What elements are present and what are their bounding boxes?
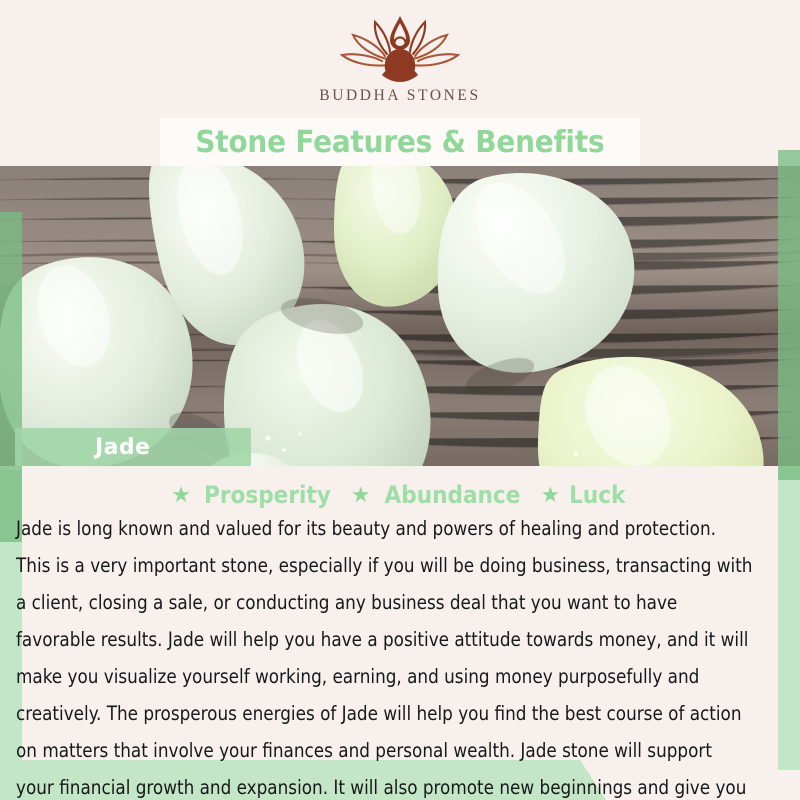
star-icon: ★ <box>171 484 191 506</box>
stone-photo <box>0 166 800 466</box>
star-icon: ★ <box>540 484 560 506</box>
stone-name: Jade <box>95 435 150 460</box>
lotus-meditation-icon <box>326 13 474 85</box>
page-title: Stone Features & Benefits <box>196 125 605 160</box>
benefit-label: Abundance <box>384 481 520 509</box>
benefit-item-prosperity: ★ Prosperity <box>171 481 338 509</box>
benefit-label: Luck <box>569 481 625 509</box>
star-icon: ★ <box>351 484 371 506</box>
decorative-green-overlay-right <box>778 150 800 480</box>
title-banner: Stone Features & Benefits <box>160 118 640 166</box>
stone-name-band: Jade <box>15 428 251 466</box>
infographic-card: BUDDHA STONES Stone Features & Benefits <box>0 0 800 800</box>
jade-stones-illustration <box>0 166 800 466</box>
brand-wordmark: BUDDHA STONES <box>319 87 480 105</box>
benefits-row: ★ Prosperity ★ Abundance ★ Luck <box>0 478 800 512</box>
brand-logo-block: BUDDHA STONES <box>0 0 800 118</box>
benefit-item-abundance: ★ Abundance <box>351 481 528 509</box>
benefit-item-luck: ★ Luck <box>540 481 628 509</box>
benefit-label: Prosperity <box>204 481 331 509</box>
stone-description: Jade is long known and valued for its be… <box>16 510 753 800</box>
